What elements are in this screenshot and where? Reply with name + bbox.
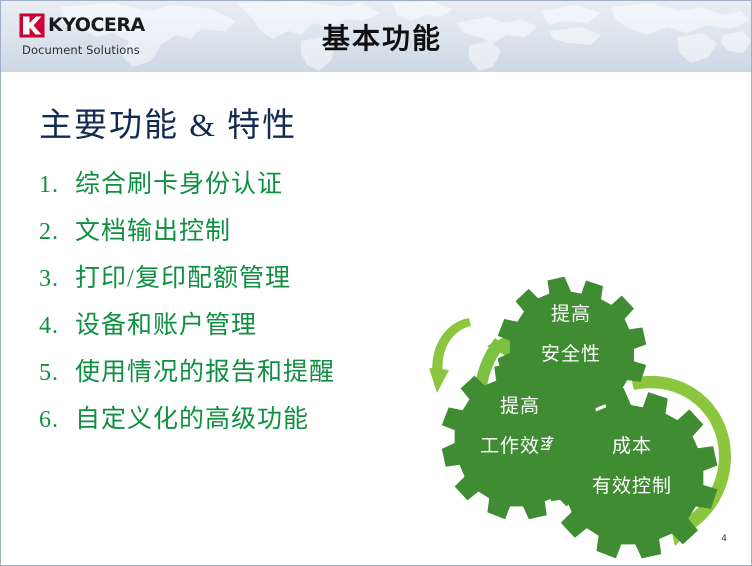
list-item-label: 文档输出控制 [75,211,231,247]
list-item-number: 5. [39,360,75,387]
slide-body: 主要功能 & 特性 1. 综合刷卡身份认证 2. 文档输出控制 3. 打印/复印… [1,72,752,566]
list-item: 1. 综合刷卡身份认证 [39,164,439,211]
gear-security-line1: 提高 [551,303,591,325]
gear-cost [547,388,718,559]
list-item: 2. 文档输出控制 [39,211,439,258]
list-item-number: 6. [39,407,75,434]
page-number: 4 [721,534,727,544]
list-item: 4. 设备和账户管理 [39,305,439,352]
three-gear-cycle-diagram: 提高 安全性 提高 工作效率 成本 有效控制 [419,260,749,566]
gear-efficiency-line1: 提高 [500,395,540,417]
list-item-number: 3. [39,266,75,293]
list-item: 6. 自定义化的高级功能 [39,399,439,446]
list-item-number: 4. [39,313,75,340]
gear-security-line2: 安全性 [541,343,601,365]
gear-cost-line1: 成本 [612,435,652,457]
list-item-number: 2. [39,219,75,246]
kyocera-tagline: Document Solutions [22,43,147,57]
list-item-label: 设备和账户管理 [75,305,257,341]
list-item-number: 1. [39,172,75,199]
kyocera-wordmark: KYOCERA [48,16,145,35]
list-item-label: 使用情况的报告和提醒 [75,352,335,388]
list-item-label: 综合刷卡身份认证 [75,164,283,200]
kyocera-logo: KYOCERA Document Solutions [19,12,147,60]
section-subtitle: 主要功能 & 特性 [39,98,297,146]
list-item-label: 打印/复印配额管理 [75,258,291,294]
arrow-down-left-icon [429,318,471,393]
feature-list: 1. 综合刷卡身份认证 2. 文档输出控制 3. 打印/复印配额管理 4. 设备… [39,164,439,446]
list-item: 5. 使用情况的报告和提醒 [39,352,439,399]
list-item: 3. 打印/复印配额管理 [39,258,439,305]
kyocera-diamond-mark-icon [19,13,45,38]
list-item-label: 自定义化的高级功能 [75,399,309,435]
gear-cost-line2: 有效控制 [592,475,672,497]
presentation-slide: 基本功能 KYOCERA Document Solutions 主要功能 & 特… [0,0,752,566]
